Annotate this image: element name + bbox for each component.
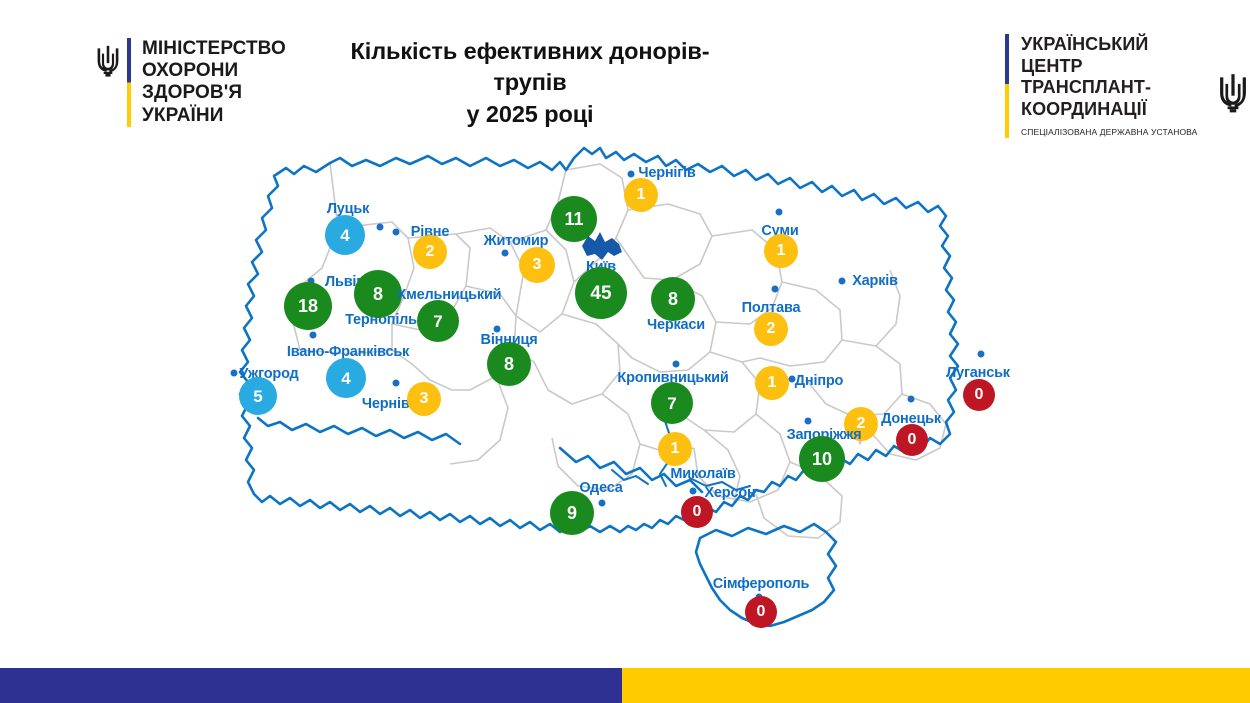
page-title: Кількість ефективних донорів-трупів у 20… bbox=[320, 36, 740, 130]
donor-count-marker-mykolaiv[interactable]: 1 bbox=[658, 432, 692, 466]
footer-blue-segment bbox=[0, 668, 622, 703]
city-dot-zhytomyr bbox=[502, 250, 509, 257]
donor-count-marker-sumy[interactable]: 1 bbox=[764, 234, 798, 268]
ukraine-map: Луцьк4Рівне2Львів18Тернопіль8Хмельницьки… bbox=[0, 118, 1250, 658]
city-dot-lutsk bbox=[377, 224, 384, 231]
ministry-line-1: МІНІСТЕРСТВО bbox=[142, 38, 286, 60]
footer-yellow-segment bbox=[622, 668, 1250, 703]
city-dot-ivano-frankivsk bbox=[310, 332, 317, 339]
footer-flag-bar bbox=[0, 668, 1250, 703]
trident-icon bbox=[95, 44, 121, 78]
donor-count-marker-ternopil[interactable]: 8 bbox=[354, 270, 402, 318]
center-line-1: УКРАЇНСЬКИЙ ЦЕНТР bbox=[1021, 34, 1206, 77]
city-dot-kharkiv bbox=[839, 278, 846, 285]
donor-count-marker-zhytomyr[interactable]: 3 bbox=[519, 247, 555, 283]
ministry-logo-text: МІНІСТЕРСТВО ОХОРОНИ ЗДОРОВ'Я УКРАЇНИ bbox=[142, 38, 286, 127]
donor-count-marker-rivne[interactable]: 2 bbox=[413, 235, 447, 269]
donor-count-marker-poltava[interactable]: 2 bbox=[754, 312, 788, 346]
donor-count-marker-lviv[interactable]: 18 bbox=[284, 282, 332, 330]
donor-count-marker-kyiv-oblast[interactable]: 11 bbox=[551, 196, 597, 242]
city-label-odesa: Одеса bbox=[579, 480, 622, 496]
city-label-mykolaiv: Миколаїв bbox=[670, 466, 735, 482]
city-label-khmelnytskyi: Хмельницький bbox=[397, 287, 502, 303]
flag-divider-bar bbox=[127, 38, 131, 127]
donor-count-marker-donetsk[interactable]: 0 bbox=[896, 424, 928, 456]
city-dot-donetsk bbox=[908, 396, 915, 403]
donor-count-marker-vinnytsia[interactable]: 8 bbox=[487, 342, 531, 386]
city-label-dnipro: Дніпро bbox=[795, 373, 843, 389]
center-line-2: ТРАНСПЛАНТ- bbox=[1021, 77, 1206, 99]
city-dot-uzhhorod bbox=[231, 370, 238, 377]
city-dot-chernivtsi bbox=[393, 380, 400, 387]
donor-count-marker-lutsk[interactable]: 4 bbox=[325, 215, 365, 255]
donor-count-marker-chernihiv[interactable]: 1 bbox=[624, 178, 658, 212]
city-dot-zaporizhzhia bbox=[805, 418, 812, 425]
donor-count-marker-kyiv[interactable]: 45 bbox=[575, 267, 627, 319]
city-dot-chernihiv bbox=[628, 171, 635, 178]
city-label-simferopol: Сімферополь bbox=[713, 576, 810, 592]
city-dot-rivne bbox=[393, 229, 400, 236]
title-line-1: Кількість ефективних донорів-трупів bbox=[320, 36, 740, 99]
donor-count-marker-kherson[interactable]: 0 bbox=[681, 496, 713, 528]
trident-icon bbox=[1216, 72, 1250, 114]
city-label-kharkiv: Харків bbox=[852, 273, 898, 289]
donor-count-marker-zaporizhzhia[interactable]: 10 bbox=[799, 436, 845, 482]
donor-count-marker-cherkasy[interactable]: 8 bbox=[651, 277, 695, 321]
city-dot-kropyvnytskyi bbox=[673, 361, 680, 368]
ministry-line-2: ОХОРОНИ bbox=[142, 60, 286, 82]
ministry-line-3: ЗДОРОВ'Я bbox=[142, 82, 286, 104]
ministry-of-health-logo: МІНІСТЕРСТВО ОХОРОНИ ЗДОРОВ'Я УКРАЇНИ bbox=[95, 38, 286, 127]
donor-count-marker-khmelnytskyi[interactable]: 7 bbox=[417, 300, 459, 342]
donor-count-marker-luhansk[interactable]: 0 bbox=[963, 379, 995, 411]
city-dot-odesa bbox=[599, 500, 606, 507]
slide-root: МІНІСТЕРСТВО ОХОРОНИ ЗДОРОВ'Я УКРАЇНИ УК… bbox=[0, 0, 1250, 703]
donor-count-marker-odesa[interactable]: 9 bbox=[550, 491, 594, 535]
city-dot-poltava bbox=[772, 286, 779, 293]
donor-count-marker-chernivtsi[interactable]: 3 bbox=[407, 382, 441, 416]
donor-count-marker-dnipro[interactable]: 1 bbox=[755, 366, 789, 400]
city-dot-kherson bbox=[690, 488, 697, 495]
map-marker-layer: Луцьк4Рівне2Львів18Тернопіль8Хмельницьки… bbox=[0, 118, 1250, 658]
city-dot-luhansk bbox=[978, 351, 985, 358]
donor-count-marker-kropyvnytskyi[interactable]: 7 bbox=[651, 382, 693, 424]
donor-count-marker-uzhhorod[interactable]: 5 bbox=[239, 377, 277, 415]
city-label-kherson: Херсон bbox=[704, 485, 755, 501]
donor-count-marker-simferopol[interactable]: 0 bbox=[745, 596, 777, 628]
donor-count-marker-ivano-frankivsk[interactable]: 4 bbox=[326, 358, 366, 398]
city-dot-sumy bbox=[776, 209, 783, 216]
